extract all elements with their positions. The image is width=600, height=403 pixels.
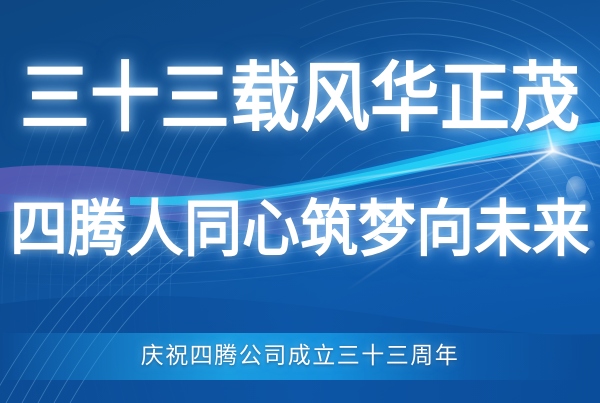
anniversary-poster: 三十三载风华正茂 四腾人同心筑梦向未来 庆祝四腾公司成立三十三周年 [0,0,600,403]
headline-line-1: 三十三载风华正茂 [20,55,580,141]
headline-line-2: 四腾人同心筑梦向未来 [10,194,590,266]
poster-subtitle: 庆祝四腾公司成立三十三周年 [141,340,460,372]
